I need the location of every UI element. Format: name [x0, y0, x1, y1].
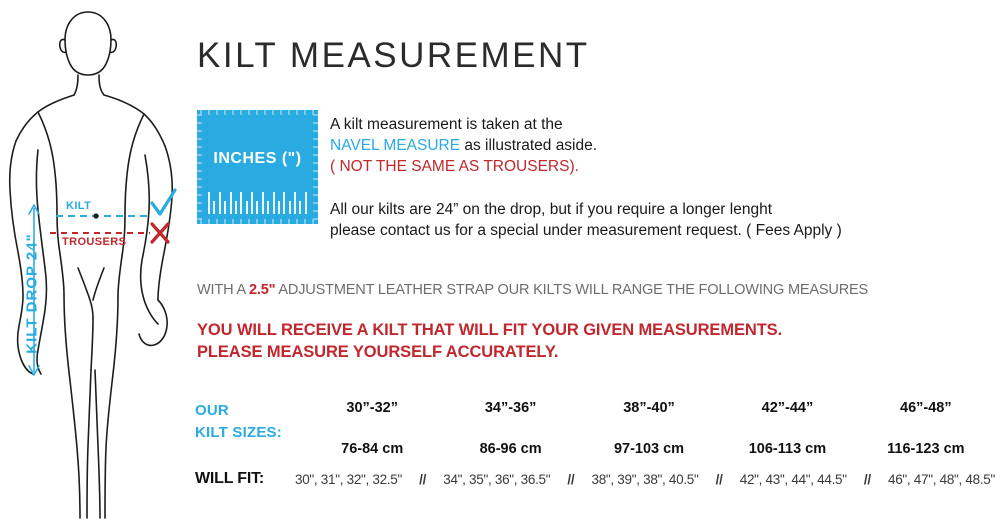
drop-length-line-1: All our kilts are 24” on the drop, but i…	[330, 199, 950, 220]
strap-note-prefix: WITH A	[197, 281, 249, 298]
intro-paragraph-1: A kilt measurement is taken at the NAVEL…	[330, 114, 950, 177]
adjustment-strap-note: WITH A 2.5" ADJUSTMENT LEATHER STRAP OUR…	[197, 281, 963, 298]
size-inches: 42”-44”	[718, 400, 856, 416]
inches-measure-box: INCHES (")	[197, 110, 318, 224]
size-inches: 38”-40”	[580, 400, 718, 416]
will-fit-separator: //	[419, 472, 426, 487]
intro-line-2-rest: as illustrated aside.	[460, 137, 597, 154]
cross-icon	[152, 224, 168, 242]
size-cm: 86-96 cm	[441, 441, 579, 457]
strap-note-suffix: ADJUSTMENT LEATHER STRAP OUR KILTS WILL …	[275, 281, 868, 298]
size-cm: 106-113 cm	[718, 441, 856, 457]
will-fit-group-1: 30", 31", 32", 32.5"	[295, 472, 402, 487]
size-cm: 97-103 cm	[580, 441, 718, 457]
kilt-size-table: OUR KILT SIZES: 30”-32” 76-84 cm 34”-36”…	[195, 400, 995, 496]
kilt-line-label: KILT	[66, 200, 91, 212]
size-cm: 116-123 cm	[857, 441, 995, 457]
kilt-measure-line	[56, 213, 150, 218]
warning-line-2: PLEASE MEASURE YOURSELF ACCURATELY.	[197, 341, 782, 363]
will-fit-values: 30", 31", 32", 32.5" // 34", 35", 36", 3…	[295, 472, 995, 487]
size-cm: 76-84 cm	[303, 441, 441, 457]
page-title: KILT MEASUREMENT	[197, 36, 590, 76]
body-figure-illustration: KILT TROUSERS KILT DROP 24"	[0, 0, 190, 531]
our-kilt-sizes-line-2: KILT SIZES:	[195, 422, 282, 444]
size-column-3: 38”-40” 97-103 cm	[580, 400, 718, 457]
intro-line-1: A kilt measurement is taken at the	[330, 114, 950, 135]
intro-text-block: A kilt measurement is taken at the NAVEL…	[330, 114, 950, 241]
strap-note-amount: 2.5"	[249, 281, 275, 298]
ruler-ticks	[208, 188, 307, 214]
kilt-measurement-infographic: KILT TROUSERS KILT DROP 24" KILT MEASURE…	[0, 0, 1000, 531]
intro-paragraph-2: All our kilts are 24” on the drop, but i…	[330, 199, 950, 241]
trousers-line-label: TROUSERS	[62, 236, 126, 248]
will-fit-separator: //	[567, 472, 574, 487]
intro-line-2: NAVEL MEASURE as illustrated aside.	[330, 135, 950, 156]
will-fit-group-5: 46", 47", 48", 48.5"	[888, 472, 995, 487]
size-inches: 30”-32”	[303, 400, 441, 416]
will-fit-group-2: 34", 35", 36", 36.5"	[443, 472, 550, 487]
navel-measure-highlight: NAVEL MEASURE	[330, 137, 460, 154]
size-column-2: 34”-36” 86-96 cm	[441, 400, 579, 457]
our-kilt-sizes-line-1: OUR	[195, 400, 282, 422]
warning-line-1: YOU WILL RECEIVE A KILT THAT WILL FIT YO…	[197, 319, 782, 341]
will-fit-separator: //	[864, 472, 871, 487]
size-column-4: 42”-44” 106-113 cm	[718, 400, 856, 457]
drop-length-line-2: please contact us for a special under me…	[330, 220, 950, 241]
table-row: OUR KILT SIZES: 30”-32” 76-84 cm 34”-36”…	[195, 400, 995, 462]
not-same-as-trousers-note: ( NOT THE SAME AS TROUSERS).	[330, 156, 950, 177]
size-column-5: 46”-48” 116-123 cm	[857, 400, 995, 457]
our-kilt-sizes-label: OUR KILT SIZES:	[195, 400, 282, 444]
will-fit-separator: //	[716, 472, 723, 487]
will-fit-label: WILL FIT:	[195, 470, 264, 488]
will-fit-group-3: 38", 39", 38", 40.5"	[592, 472, 699, 487]
size-inches: 46”-48”	[857, 400, 995, 416]
will-fit-group-4: 42", 43", 44", 44.5"	[740, 472, 847, 487]
size-inches: 34”-36”	[441, 400, 579, 416]
kilt-drop-label: KILT DROP 24"	[24, 219, 41, 369]
accuracy-warning: YOU WILL RECEIVE A KILT THAT WILL FIT YO…	[197, 319, 782, 363]
table-row: WILL FIT: 30", 31", 32", 32.5" // 34", 3…	[195, 470, 995, 496]
size-column-1: 30”-32” 76-84 cm	[303, 400, 441, 457]
inches-box-label: INCHES (")	[197, 150, 318, 168]
size-columns: 30”-32” 76-84 cm 34”-36” 86-96 cm 38”-40…	[303, 400, 995, 457]
